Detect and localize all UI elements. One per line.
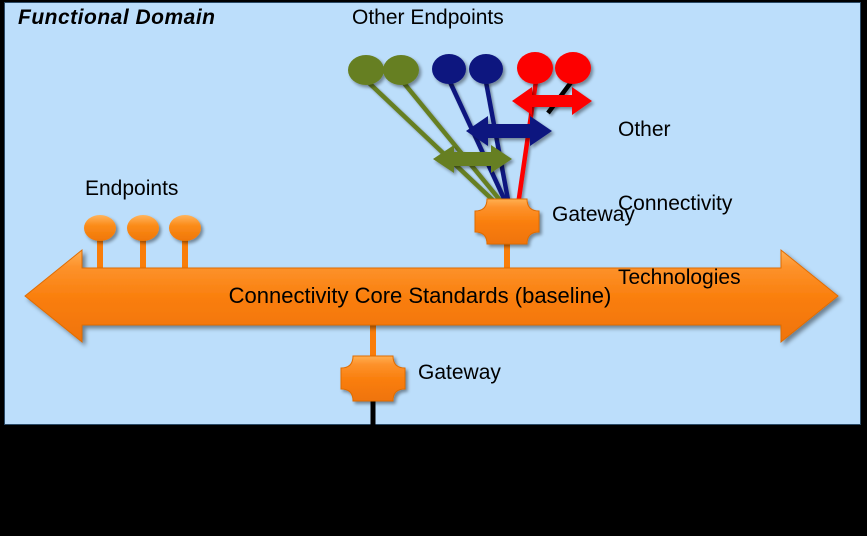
- gateway-bottom-label: Gateway: [418, 361, 501, 386]
- endpoints-label: Endpoints: [85, 177, 178, 202]
- other-endpoints-label: Other Endpoints: [352, 6, 504, 31]
- diagram-canvas: Functional Domain Other Endpoints Endpoi…: [0, 0, 867, 536]
- other-endpoint-green-2: [383, 55, 419, 85]
- endpoint-2: [127, 215, 159, 241]
- other-endpoint-red-1: [517, 52, 553, 84]
- other-endpoint-green-1: [348, 55, 384, 85]
- baseline-bar-label: Connectivity Core Standards (baseline): [60, 283, 780, 309]
- core-endpoint-heads: [84, 215, 201, 241]
- page-title: Functional Domain: [18, 6, 216, 31]
- oct-line-1: Other: [618, 118, 741, 143]
- endpoint-1: [84, 215, 116, 241]
- gateway-bottom: [341, 356, 405, 401]
- other-endpoint-red-2: [555, 52, 591, 84]
- gateway-top-label: Gateway: [552, 203, 635, 228]
- oct-line-2: Connectivity: [618, 192, 741, 217]
- other-endpoint-blue-2: [469, 54, 503, 84]
- other-endpoint-blue-1: [432, 54, 466, 84]
- gateway-top: [475, 199, 539, 244]
- other-endpoint-heads: [348, 52, 591, 85]
- endpoint-3: [169, 215, 201, 241]
